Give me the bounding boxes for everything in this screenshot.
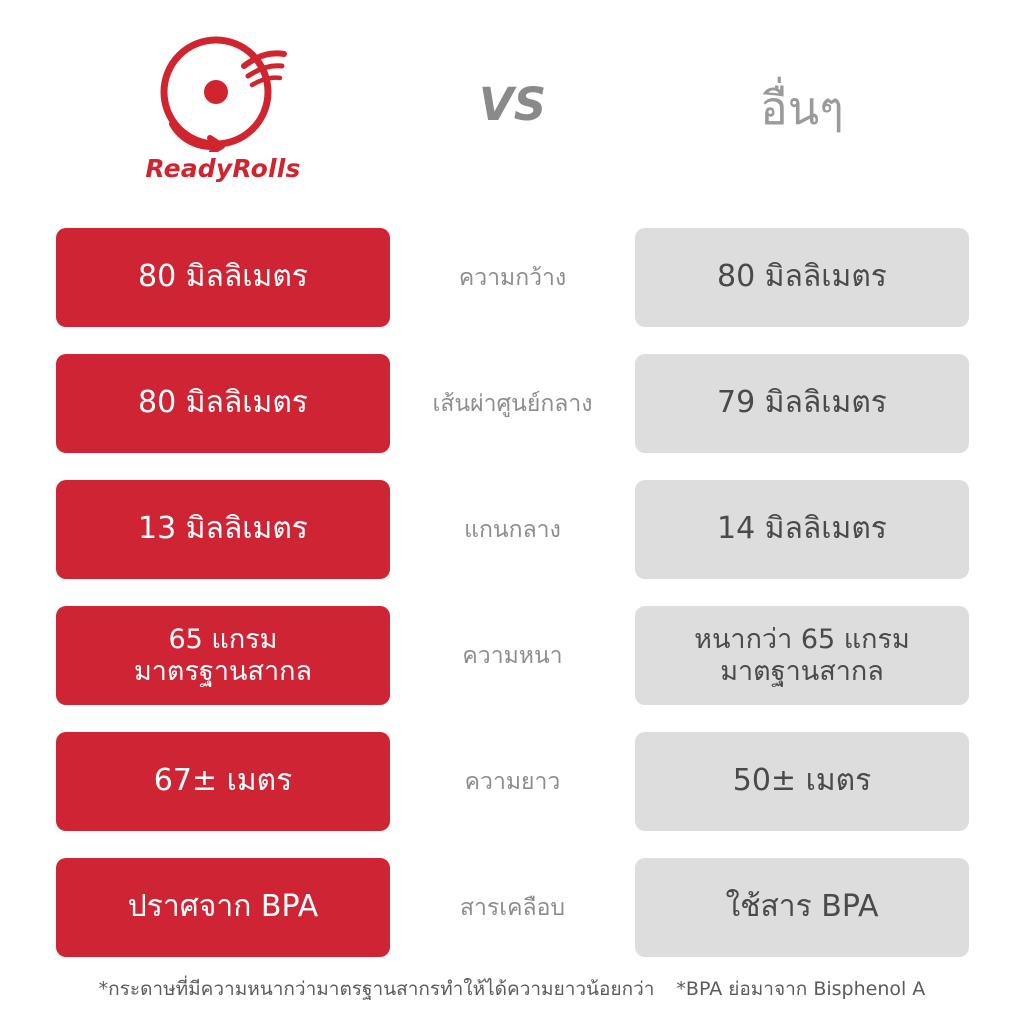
attribute-label: ความหนา	[396, 606, 629, 705]
table-row: 67± เมตร ความยาว 50± เมตร	[0, 732, 1024, 831]
table-row: ปราศจาก BPA สารเคลือบ ใช้สาร BPA	[0, 858, 1024, 957]
other-value: 14 มิลลิเมตร	[635, 480, 969, 579]
attribute-label: แกนกลาง	[396, 480, 629, 579]
table-row: 65 แกรมมาตรฐานสากล ความหนา หนากว่า 65 แก…	[0, 606, 1024, 705]
other-value: หนากว่า 65 แกรมมาตฐานสากล	[635, 606, 969, 705]
attribute-label: เส้นผ่าศูนย์กลาง	[396, 354, 629, 453]
brand-name: ReadyRolls	[145, 154, 300, 183]
other-value: 50± เมตร	[635, 732, 969, 831]
ready-value: ปราศจาก BPA	[56, 858, 390, 957]
thermal-roll-logo-icon	[148, 20, 298, 152]
footnotes: *กระดาษที่มีความหนากว่ามาตรฐานสากรทำให้ไ…	[0, 974, 1024, 1004]
others-column-title: อื่นๆ	[635, 72, 969, 145]
attribute-label: ความยาว	[396, 732, 629, 831]
ready-value: 65 แกรมมาตรฐานสากล	[56, 606, 390, 705]
comparison-infographic: ReadyRolls VS อื่นๆ 80 มิลลิเมตร ความกว้…	[0, 0, 1024, 1024]
vs-label: VS	[390, 78, 635, 131]
ready-value: 80 มิลลิเมตร	[56, 354, 390, 453]
footnote-thickness: *กระดาษที่มีความหนากว่ามาตรฐานสากรทำให้ไ…	[99, 974, 655, 1004]
table-row: 13 มิลลิเมตร แกนกลาง 14 มิลลิเมตร	[0, 480, 1024, 579]
brand-block: ReadyRolls	[56, 20, 390, 210]
other-value: 79 มิลลิเมตร	[635, 354, 969, 453]
attribute-label: ความกว้าง	[396, 228, 629, 327]
ready-value: 80 มิลลิเมตร	[56, 228, 390, 327]
header: ReadyRolls VS อื่นๆ	[0, 0, 1024, 215]
footnote-bpa: *BPA ย่อมาจาก Bisphenol A	[676, 974, 925, 1004]
table-row: 80 มิลลิเมตร เส้นผ่าศูนย์กลาง 79 มิลลิเม…	[0, 354, 1024, 453]
other-value: ใช้สาร BPA	[635, 858, 969, 957]
table-row: 80 มิลลิเมตร ความกว้าง 80 มิลลิเมตร	[0, 228, 1024, 327]
attribute-label: สารเคลือบ	[396, 858, 629, 957]
ready-value: 67± เมตร	[56, 732, 390, 831]
comparison-rows: 80 มิลลิเมตร ความกว้าง 80 มิลลิเมตร 80 ม…	[0, 228, 1024, 984]
ready-value: 13 มิลลิเมตร	[56, 480, 390, 579]
other-value: 80 มิลลิเมตร	[635, 228, 969, 327]
